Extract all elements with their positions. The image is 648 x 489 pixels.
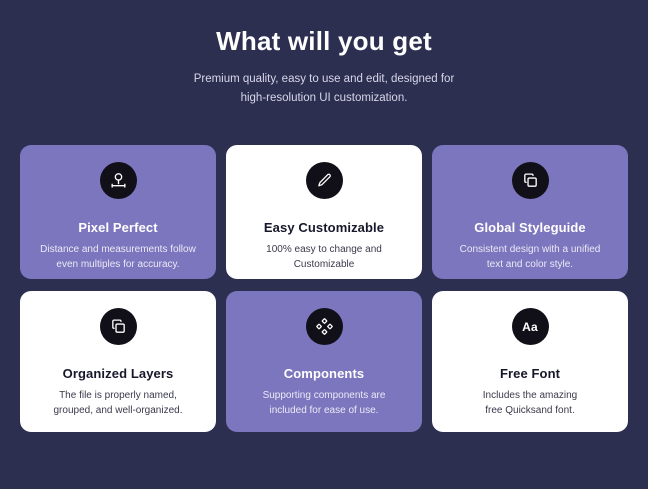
pencil-icon [306,162,343,199]
pixel-measure-icon [100,162,137,199]
feature-card-description-line-1: Supporting components are [263,390,386,401]
feature-card-description-line-2: grouped, and well-organized. [54,405,183,416]
feature-card-free-font[interactable]: Aa Free Font Includes the amazing free Q… [432,291,628,432]
feature-card-title: Organized Layers [63,365,174,382]
feature-card-title: Free Font [500,365,560,382]
font-aa-icon: Aa [512,308,549,345]
feature-card-description-line-1: Includes the amazing [483,390,578,401]
page-subtitle: Premium quality, easy to use and edit, d… [159,70,489,108]
feature-card-description-line-1: Consistent design with a unified [460,244,601,255]
feature-card-title: Easy Customizable [264,219,384,236]
feature-card-description-line-1: The file is properly named, [59,390,177,401]
feature-card-description-line-1: 100% easy to change and [266,244,382,255]
feature-card-organized-layers[interactable]: Organized Layers The file is properly na… [20,291,216,432]
feature-card-description: Consistent design with a unified text an… [460,243,601,272]
copy-layers-icon [100,308,137,345]
page-subtitle-line-1: Premium quality, easy to use and edit, d… [159,70,489,89]
feature-showcase-page: What will you get Premium quality, easy … [0,0,648,489]
feature-card-description-line-2: even multiples for accuracy. [56,259,179,270]
feature-card-description-line-2: Customizable [294,259,355,270]
feature-card-grid: Pixel Perfect Distance and measurements … [20,145,628,432]
feature-card-description: Includes the amazing free Quicksand font… [483,389,578,418]
font-aa-icon-label: Aa [522,321,538,333]
feature-card-title: Components [284,365,364,382]
components-diamond-icon [306,308,343,345]
feature-card-title: Global Styleguide [474,219,586,236]
feature-card-global-styleguide[interactable]: Global Styleguide Consistent design with… [432,145,628,279]
copy-layers-icon [512,162,549,199]
page-subtitle-line-2: high-resolution UI customization. [159,89,489,108]
feature-card-easy-customizable[interactable]: Easy Customizable 100% easy to change an… [226,145,422,279]
feature-card-description: The file is properly named, grouped, and… [54,389,183,418]
feature-card-description-line-2: text and color style. [487,259,573,270]
feature-card-description-line-1: Distance and measurements follow [40,244,196,255]
feature-card-description: 100% easy to change and Customizable [266,243,382,272]
feature-card-pixel-perfect[interactable]: Pixel Perfect Distance and measurements … [20,145,216,279]
feature-card-title: Pixel Perfect [78,219,157,236]
feature-card-description-line-2: included for ease of use. [270,405,379,416]
feature-card-description-line-2: free Quicksand font. [485,405,575,416]
page-title: What will you get [0,24,648,58]
page-header: What will you get Premium quality, easy … [0,0,648,108]
feature-card-description: Distance and measurements follow even mu… [40,243,196,272]
feature-card-components[interactable]: Components Supporting components are inc… [226,291,422,432]
feature-card-description: Supporting components are included for e… [263,389,386,418]
